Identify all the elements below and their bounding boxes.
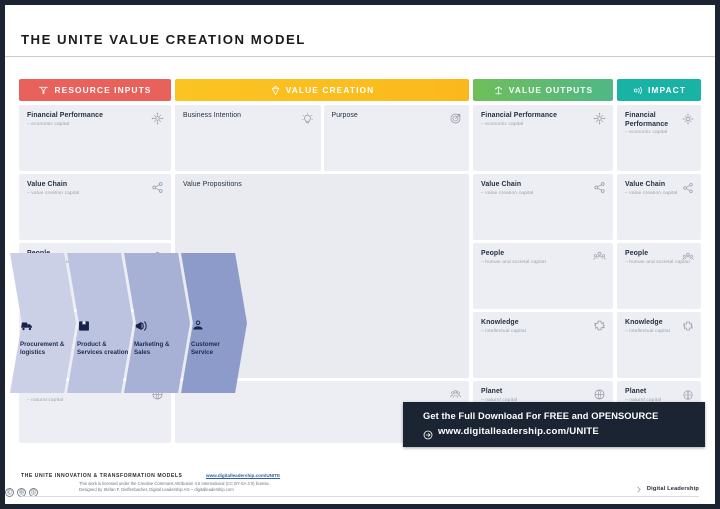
share-nodes-icon [593, 181, 606, 199]
promo-banner[interactable]: Get the Full Download For FREE and OPENS… [403, 402, 705, 447]
network-star-icon [151, 112, 164, 130]
people-group-icon [593, 250, 606, 268]
cell-title: Value Chain [27, 181, 163, 190]
promo-url[interactable]: www.digitalleadership.com/UNITE [438, 426, 599, 437]
column-header-value-creation[interactable]: VALUE CREATION [175, 79, 469, 101]
network-star-icon [593, 112, 606, 130]
value-creation-top-row: Business IntentionPurpose [175, 105, 469, 171]
cell-title: People [481, 250, 605, 259]
promo-line-1: Get the Full Download For FREE and OPENS… [423, 411, 658, 421]
cell-financial-performance[interactable]: Financial Performance– economic capital [19, 105, 171, 171]
model-board: RESOURCE INPUTSFinancial Performance– ec… [5, 57, 715, 447]
chevron-customer-service[interactable]: Customer Service [181, 253, 247, 393]
cell-people[interactable]: People– human and societal capital [473, 243, 613, 309]
cell-financial-performance[interactable]: Financial Performance– economic capital [617, 105, 701, 171]
title-bar: THE UNITE VALUE CREATION MODEL [5, 5, 715, 57]
chevron-label: Customer Service [191, 341, 243, 358]
footer-link[interactable]: www.digitalleadership.com/UNITE [206, 473, 280, 478]
column-header-resource-inputs[interactable]: RESOURCE INPUTS [19, 79, 171, 101]
footer: THE UNITE INNOVATION & TRANSFORMATION MO… [5, 455, 715, 504]
lightbulb-idea-icon [301, 112, 314, 130]
cell-subtitle: – value creation capital [481, 191, 605, 197]
column-header-label: RESOURCE INPUTS [54, 85, 151, 95]
target-arrow-icon [449, 112, 462, 130]
cell-title: Knowledge [481, 319, 605, 328]
people-group-icon [682, 250, 694, 268]
chevron-product-services-creation[interactable]: Product & Services creation [67, 253, 133, 393]
network-star-icon [682, 112, 694, 130]
truck-icon [20, 319, 34, 338]
column-header-label: VALUE CREATION [286, 85, 375, 95]
cell-knowledge[interactable]: Knowledge– intellectual capital [473, 312, 613, 378]
megaphone-icon [134, 319, 148, 338]
chevron-marketing-sales[interactable]: Marketing & Sales [124, 253, 190, 393]
cell-title: Financial Performance [481, 112, 605, 121]
cell-title: Planet [481, 388, 605, 397]
cell-title: Value Chain [481, 181, 605, 190]
chevron-label: Marketing & Sales [134, 341, 186, 358]
chevron-procurement-logistics[interactable]: Procurement & logistics [10, 253, 76, 393]
cell-subtitle: – human and societal capital [481, 260, 605, 266]
puzzle-piece-icon [593, 319, 606, 337]
cell-purpose[interactable]: Purpose [324, 105, 470, 171]
value-gem-icon [270, 85, 281, 96]
column-header-label: VALUE OUTPUTS [509, 85, 593, 95]
poster-frame: THE UNITE VALUE CREATION MODEL RESOURCE … [5, 5, 715, 504]
value-chain-chevrons: Procurement & logisticsProduct & Service… [10, 253, 235, 393]
footer-heading: THE UNITE INNOVATION & TRANSFORMATION MO… [21, 473, 182, 479]
outputs-scale-icon [493, 85, 504, 96]
cell-business-intention[interactable]: Business Intention [175, 105, 321, 171]
globe-arrow-icon [423, 427, 433, 445]
column-cells: Financial Performance– economic capitalV… [473, 105, 613, 446]
chevron-label: Procurement & logistics [20, 341, 72, 358]
column-header-impact[interactable]: IMPACT [617, 79, 701, 101]
cc-badge: Ⓒ [5, 488, 14, 497]
share-nodes-icon [682, 181, 694, 199]
cell-value-chain[interactable]: Value Chain– value creation capital [473, 174, 613, 240]
footer-divider [21, 496, 699, 497]
cell-financial-performance[interactable]: Financial Performance– economic capital [473, 105, 613, 171]
inputs-funnel-icon [38, 85, 49, 96]
cell-people[interactable]: People– human and societal capital [617, 243, 701, 309]
column-header-value-outputs[interactable]: VALUE OUTPUTS [473, 79, 613, 101]
support-agent-icon [191, 319, 205, 338]
column-cells: Financial Performance– economic capitalV… [617, 105, 701, 446]
cell-title: Purpose [332, 112, 462, 121]
cell-title: Value Propositions [183, 181, 461, 190]
share-nodes-icon [151, 181, 164, 199]
cell-title: Business Intention [183, 112, 313, 121]
cell-value-chain[interactable]: Value Chain– value creation capital [19, 174, 171, 240]
chevron-label: Product & Services creation [77, 341, 129, 358]
puzzle-piece-icon [682, 319, 694, 337]
cell-subtitle: – economic capital [481, 122, 605, 128]
cell-value-chain[interactable]: Value Chain– value creation capital [617, 174, 701, 240]
impact-ripple-icon [632, 85, 643, 96]
cell-subtitle: – intellectual capital [481, 329, 605, 335]
brand-name: Digital Leadership [647, 486, 699, 492]
box-package-icon [77, 319, 91, 338]
cell-subtitle: – economic capital [27, 122, 163, 128]
column-header-label: IMPACT [648, 85, 686, 95]
cell-knowledge[interactable]: Knowledge– intellectual capital [617, 312, 701, 378]
cell-subtitle: – natural capital [27, 398, 163, 404]
cell-subtitle: – value creation capital [27, 191, 163, 197]
license-line-2: Designed by Stefan F. Dieffenbacher, Dig… [79, 487, 234, 493]
page-title: THE UNITE VALUE CREATION MODEL [21, 32, 306, 47]
cell-title: Financial Performance [27, 112, 163, 121]
cell-subtitle: – economic capital [625, 130, 693, 136]
